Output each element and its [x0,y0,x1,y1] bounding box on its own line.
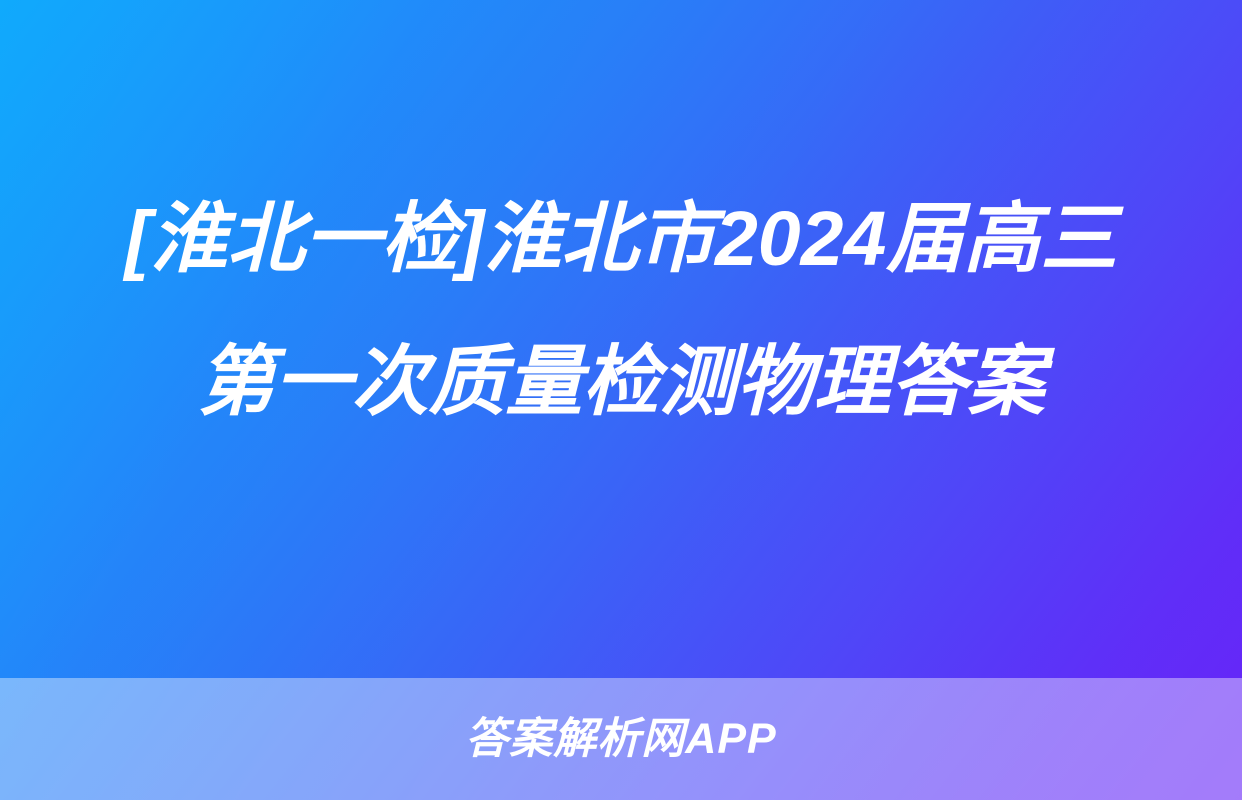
poster-background: [淮北一检]淮北市2024届高三第一次质量检测物理答案 答案解析网APP [0,0,1242,800]
title-block: [淮北一检]淮北市2024届高三第一次质量检测物理答案 [0,168,1242,454]
app-name-label: 答案解析网APP [465,718,776,761]
page-title: [淮北一检]淮北市2024届高三第一次质量检测物理答案 [100,168,1142,454]
app-footer-bar[interactable]: 答案解析网APP [0,678,1242,800]
